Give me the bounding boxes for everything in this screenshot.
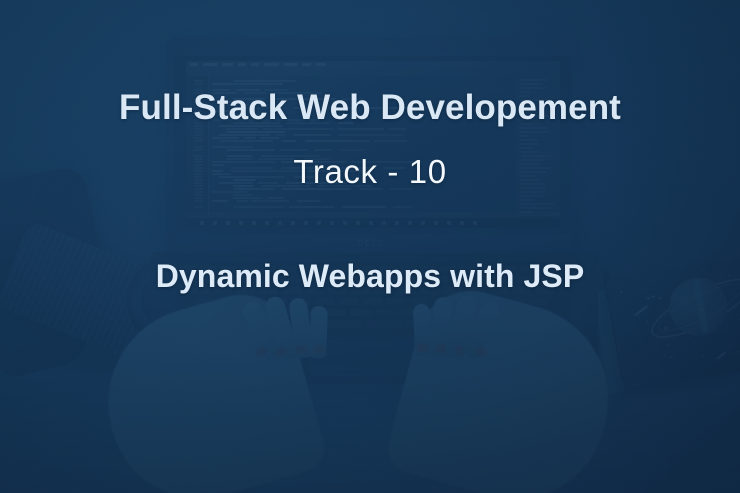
track-label: Track - 10 xyxy=(0,153,740,191)
course-title-card: DELL Full-Stack Web Developement Track -… xyxy=(0,0,740,493)
lesson-subtitle: Dynamic Webapps with JSP xyxy=(0,258,740,295)
course-headline: Full-Stack Web Developement xyxy=(0,88,740,128)
title-text-group: Full-Stack Web Developement Track - 10 D… xyxy=(0,0,740,493)
